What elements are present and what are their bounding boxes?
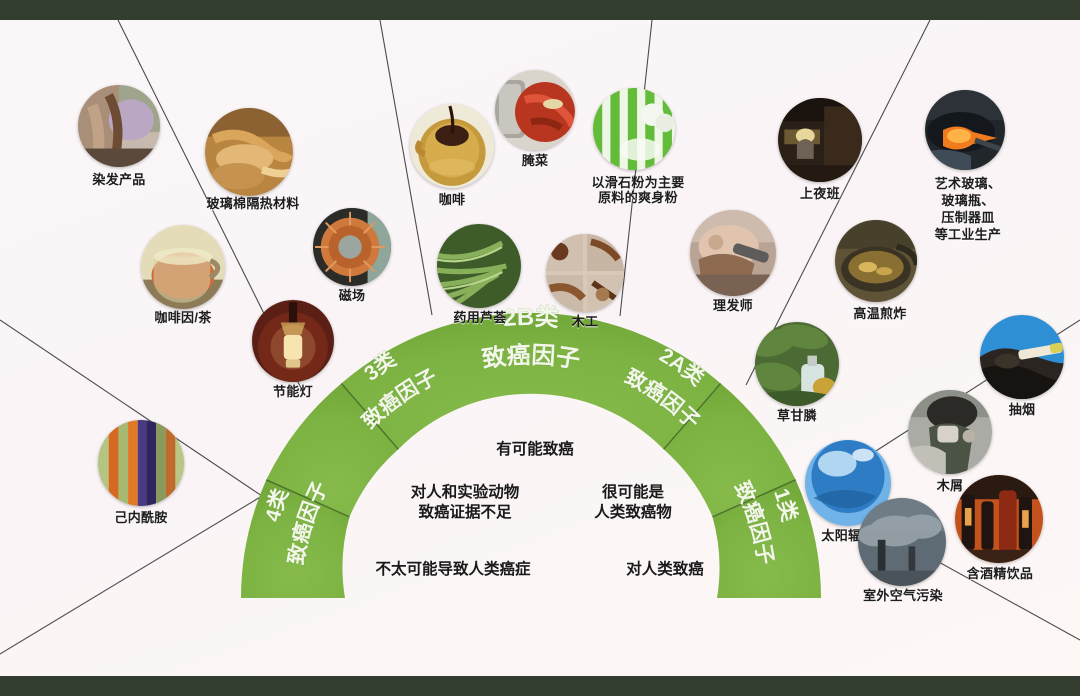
item-caption-glass-industry: 艺术玻璃、 玻璃瓶、 压制器皿 等工业生产 [913,175,1023,243]
item-caption-barber: 理发师 [690,298,776,313]
item-caption-outdoor-air: 室外空气污染 [840,588,966,603]
item-caption-hair-dye: 染发产品 [48,172,190,187]
wood-dust-icon [908,390,992,474]
smoking-icon [980,315,1064,399]
item-caption-pickled-veg: 腌菜 [495,153,575,168]
item-bubble-glyphosate[interactable] [755,322,839,406]
glass-industry-icon [925,90,1005,170]
item-bubble-caprolactam[interactable] [98,420,184,506]
medicinal-aloe-icon [437,224,521,308]
item-bubble-glass-wool[interactable] [205,108,293,196]
item-caption-glyphosate: 草甘膦 [752,408,842,423]
item-bubble-high-temp-fry[interactable] [835,220,917,302]
item-caption-alcohol: 含酒精饮品 [940,566,1060,581]
item-bubble-talc-powder[interactable] [593,88,675,170]
item-caption-energy-lamp: 节能灯 [253,384,333,399]
item-bubble-caffeine-tea[interactable] [141,225,225,309]
description-class-4: 不太可能导致人类癌症 [348,560,558,580]
item-bubble-smoking[interactable] [980,315,1064,399]
item-bubble-energy-lamp[interactable] [252,300,334,382]
item-bubble-coffee[interactable] [410,104,494,188]
glass-wool-icon [205,108,293,196]
top-frame-bar [0,0,1080,20]
pickled-vegetable-icon [495,70,575,150]
magnetic-field-icon [313,208,391,286]
item-caption-talc-powder: 以滑石粉为主要 原料的爽身粉 [568,175,708,205]
outdoor-air-pollution-icon [858,498,946,586]
item-caption-caprolactam: 己内酰胺 [76,510,206,525]
item-bubble-medicinal-aloe[interactable] [437,224,521,308]
alcohol-drinks-icon [955,475,1043,563]
talc-powder-icon [593,88,675,170]
description-class-2a: 很可能是 人类致癌物 [558,483,708,523]
item-caption-glass-wool: 玻璃棉隔热材料 [178,196,328,211]
glyphosate-icon [755,322,839,406]
infographic-canvas: 4类 致癌因子 3类 致癌因子 2B类 致癌因子 2A类 [0,20,1080,676]
item-caption-night-shift: 上夜班 [778,186,862,201]
item-caption-coffee: 咖啡 [412,192,492,207]
item-caption-caffeine-tea: 咖啡因/茶 [112,310,254,325]
item-caption-medicinal-aloe: 药用芦荟 [432,310,528,325]
description-class-2b: 有可能致癌 [450,440,620,460]
high-temp-frying-icon [835,220,917,302]
item-bubble-glass-industry[interactable] [925,90,1005,170]
description-class-3: 对人和实验动物 致癌证据不足 [380,483,550,523]
barber-icon [690,210,776,296]
infographic-stage: 4类 致癌因子 3类 致癌因子 2B类 致癌因子 2A类 [0,0,1080,696]
energy-lamp-icon [252,300,334,382]
caffeine-tea-icon [141,225,225,309]
item-bubble-carpentry[interactable] [546,234,624,312]
item-caption-carpentry: 木工 [545,314,625,329]
item-caption-smoking: 抽烟 [980,402,1064,417]
caprolactam-icon [98,420,184,506]
coffee-icon [410,104,494,188]
item-bubble-outdoor-air[interactable] [858,498,946,586]
item-caption-magnetic-field: 磁场 [312,288,392,303]
bottom-frame-bar [0,676,1080,696]
description-class-1: 对人类致癌 [600,560,730,580]
item-bubble-barber[interactable] [690,210,776,296]
segment-class-2b[interactable] [341,313,720,449]
night-shift-icon [778,98,862,182]
item-bubble-pickled-veg[interactable] [495,70,575,150]
item-caption-high-temp-fry: 高温煎炸 [832,306,928,321]
item-bubble-magnetic-field[interactable] [313,208,391,286]
item-bubble-alcohol[interactable] [955,475,1043,563]
carpentry-icon [546,234,624,312]
item-bubble-wood-dust[interactable] [908,390,992,474]
item-bubble-hair-dye[interactable] [78,85,160,167]
item-bubble-night-shift[interactable] [778,98,862,182]
hair-dye-icon [78,85,160,167]
